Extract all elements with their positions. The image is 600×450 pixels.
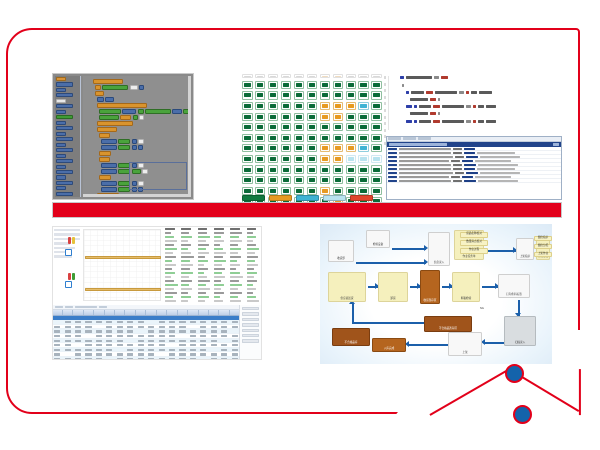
table-cell[interactable] xyxy=(126,334,136,338)
status-grid-cell[interactable] xyxy=(371,81,382,89)
status-grid-cell[interactable] xyxy=(268,134,279,142)
table-cell[interactable] xyxy=(199,325,209,329)
status-grid-cell[interactable] xyxy=(320,113,331,121)
status-grid-cell[interactable] xyxy=(307,144,318,152)
status-grid-cell[interactable] xyxy=(294,144,305,152)
table-body[interactable] xyxy=(53,320,261,360)
table-column-header[interactable] xyxy=(220,310,230,315)
status-grid-cell[interactable] xyxy=(294,176,305,184)
table-cell[interactable] xyxy=(105,339,115,343)
status-grid-cell[interactable] xyxy=(255,113,266,121)
status-grid-cell[interactable] xyxy=(333,144,344,152)
table-column-header[interactable] xyxy=(63,310,73,315)
status-grid-cell[interactable] xyxy=(255,74,266,78)
status-grid-cell[interactable] xyxy=(281,134,292,142)
toolbox-block[interactable] xyxy=(56,110,66,114)
block-chip[interactable] xyxy=(97,121,133,126)
status-grid-cell[interactable] xyxy=(371,113,382,121)
table-cell[interactable] xyxy=(157,325,167,329)
status-grid-cell[interactable] xyxy=(294,102,305,110)
status-grid-cell[interactable] xyxy=(281,91,292,99)
table-cell[interactable] xyxy=(63,334,73,338)
status-grid-cell[interactable] xyxy=(333,81,344,89)
table-cell[interactable] xyxy=(53,339,63,343)
toolbox-block[interactable] xyxy=(56,192,73,196)
status-grid-cell[interactable] xyxy=(268,165,279,173)
table-cell[interactable] xyxy=(147,329,157,333)
table-column-header[interactable] xyxy=(53,310,63,315)
block-chip[interactable] xyxy=(139,115,144,120)
table-cell[interactable] xyxy=(189,348,199,352)
status-grid-cell[interactable] xyxy=(242,91,253,99)
schedule-gantt-grid[interactable] xyxy=(83,229,161,301)
block-chip[interactable] xyxy=(101,139,117,144)
status-grid-cell[interactable] xyxy=(358,81,369,89)
table-cell[interactable] xyxy=(210,339,220,343)
table-column-header[interactable] xyxy=(137,310,147,315)
status-grid-cell[interactable] xyxy=(281,81,292,89)
table-cell[interactable] xyxy=(220,348,230,352)
block-chip[interactable] xyxy=(97,103,147,108)
toolbox-block[interactable] xyxy=(56,181,73,185)
status-grid-cell[interactable] xyxy=(346,134,357,142)
status-grid-cell[interactable] xyxy=(255,102,266,110)
status-grid-cell[interactable] xyxy=(242,144,253,152)
block-chip[interactable] xyxy=(133,115,138,120)
toolbox-block[interactable] xyxy=(56,186,66,190)
table-cell[interactable] xyxy=(74,348,84,352)
block-statement-row[interactable] xyxy=(99,151,111,156)
table-cell[interactable] xyxy=(210,325,220,329)
table-cell[interactable] xyxy=(105,352,115,356)
status-grid-cell[interactable] xyxy=(320,91,331,99)
table-cell[interactable] xyxy=(168,329,178,333)
toolbox-block[interactable] xyxy=(56,143,66,147)
status-grid-cell[interactable] xyxy=(242,165,253,173)
table-cell[interactable] xyxy=(199,320,209,324)
block-statement-row[interactable] xyxy=(93,79,123,84)
table-column-header[interactable] xyxy=(126,310,136,315)
status-grid-cell[interactable] xyxy=(294,165,305,173)
status-grid-cell[interactable] xyxy=(371,134,382,142)
status-grid-cell[interactable] xyxy=(358,91,369,99)
table-cell[interactable] xyxy=(210,348,220,352)
toolbox-block[interactable] xyxy=(56,175,66,179)
block-chip[interactable] xyxy=(95,91,104,96)
toolbox-block[interactable] xyxy=(56,82,73,86)
table-cell[interactable] xyxy=(126,352,136,356)
status-grid-cell[interactable] xyxy=(281,165,292,173)
toolbox-block[interactable] xyxy=(56,99,66,103)
table-cell[interactable] xyxy=(95,325,105,329)
table-cell[interactable] xyxy=(210,352,220,356)
status-grid-cell[interactable] xyxy=(371,144,382,152)
table-cell[interactable] xyxy=(53,334,63,338)
table-column-header[interactable] xyxy=(116,310,126,315)
gantt-task-bar[interactable] xyxy=(85,256,161,259)
table-cell[interactable] xyxy=(189,352,199,356)
status-grid-cell[interactable] xyxy=(242,81,253,89)
table-cell[interactable] xyxy=(74,357,84,360)
table-cell[interactable] xyxy=(116,325,126,329)
status-grid-cell[interactable] xyxy=(307,81,318,89)
status-grid-cell[interactable] xyxy=(268,155,279,163)
status-grid-cell[interactable] xyxy=(333,113,344,121)
toolbox-block[interactable] xyxy=(56,88,66,92)
table-cell[interactable] xyxy=(74,334,84,338)
table-cell[interactable] xyxy=(157,339,167,343)
status-grid-cell[interactable] xyxy=(320,102,331,110)
schedule-node-marker[interactable] xyxy=(65,249,72,256)
block-chip[interactable] xyxy=(93,79,123,84)
status-grid-cell[interactable] xyxy=(371,102,382,110)
table-cell[interactable] xyxy=(116,334,126,338)
toolbox-block[interactable] xyxy=(56,77,66,81)
block-statement-row[interactable] xyxy=(97,103,147,108)
status-grid-cell[interactable] xyxy=(268,176,279,184)
status-grid-cell[interactable] xyxy=(268,123,279,131)
table-cell[interactable] xyxy=(137,348,147,352)
table-cell[interactable] xyxy=(178,343,188,347)
table-cell[interactable] xyxy=(178,329,188,333)
table-cell[interactable] xyxy=(210,343,220,347)
block-chip[interactable] xyxy=(101,187,117,192)
table-cell[interactable] xyxy=(168,339,178,343)
block-chip[interactable] xyxy=(130,85,138,90)
table-cell[interactable] xyxy=(84,352,94,356)
status-grid-cell[interactable] xyxy=(346,123,357,131)
table-cell[interactable] xyxy=(189,334,199,338)
status-grid-cell[interactable] xyxy=(358,144,369,152)
table-column-header[interactable] xyxy=(210,310,220,315)
table-cell[interactable] xyxy=(63,357,73,360)
block-statement-row[interactable] xyxy=(99,157,110,162)
table-cell[interactable] xyxy=(84,320,94,324)
table-cell[interactable] xyxy=(220,320,230,324)
table-cell[interactable] xyxy=(84,357,94,360)
table-cell[interactable] xyxy=(95,320,105,324)
table-cell[interactable] xyxy=(157,334,167,338)
table-column-header[interactable] xyxy=(178,310,188,315)
table-cell[interactable] xyxy=(189,320,199,324)
table-cell[interactable] xyxy=(116,357,126,360)
table-column-header[interactable] xyxy=(74,310,84,315)
toolbox-block[interactable] xyxy=(56,121,66,125)
block-chip[interactable] xyxy=(95,85,101,90)
table-cell[interactable] xyxy=(126,320,136,324)
table-cell[interactable] xyxy=(137,325,147,329)
table-cell[interactable] xyxy=(105,325,115,329)
block-chip[interactable] xyxy=(97,127,117,132)
schedule-node-marker[interactable] xyxy=(65,281,72,288)
table-cell[interactable] xyxy=(95,357,105,360)
table-cell[interactable] xyxy=(220,329,230,333)
block-statement-row[interactable] xyxy=(95,91,104,96)
status-grid-cell[interactable] xyxy=(320,144,331,152)
status-grid-cell[interactable] xyxy=(242,176,253,184)
table-cell[interactable] xyxy=(137,334,147,338)
table-cell[interactable] xyxy=(168,325,178,329)
table-cell[interactable] xyxy=(63,329,73,333)
table-cell[interactable] xyxy=(220,357,230,360)
table-cell[interactable] xyxy=(189,357,199,360)
table-cell[interactable] xyxy=(168,334,178,338)
table-cell[interactable] xyxy=(157,352,167,356)
status-grid-cell[interactable] xyxy=(358,134,369,142)
status-grid-cell[interactable] xyxy=(320,155,331,163)
toolbox-block[interactable] xyxy=(56,165,66,169)
table-cell[interactable] xyxy=(74,339,84,343)
status-grid-cell[interactable] xyxy=(281,155,292,163)
table-cell[interactable] xyxy=(168,352,178,356)
table-cell[interactable] xyxy=(189,325,199,329)
gantt-task-bar[interactable] xyxy=(85,288,161,291)
table-cell[interactable] xyxy=(199,329,209,333)
table-cell[interactable] xyxy=(53,352,63,356)
table-cell[interactable] xyxy=(220,339,230,343)
table-cell[interactable] xyxy=(126,343,136,347)
status-grid-cell[interactable] xyxy=(281,144,292,152)
block-chip[interactable] xyxy=(99,175,111,180)
status-grid-cell[interactable] xyxy=(346,176,357,184)
status-grid-cell[interactable] xyxy=(358,176,369,184)
table-cell[interactable] xyxy=(63,343,73,347)
status-grid-cell[interactable] xyxy=(268,74,279,78)
status-grid-cell[interactable] xyxy=(307,123,318,131)
block-statement-row[interactable] xyxy=(95,85,144,90)
status-grid-cell[interactable] xyxy=(281,102,292,110)
status-grid-cell[interactable] xyxy=(333,123,344,131)
block-chip[interactable] xyxy=(132,139,137,144)
status-grid-cell[interactable] xyxy=(307,74,318,78)
block-chip[interactable] xyxy=(102,85,128,90)
table-cell[interactable] xyxy=(105,334,115,338)
table-cell[interactable] xyxy=(220,343,230,347)
status-grid-cell[interactable] xyxy=(346,165,357,173)
table-cell[interactable] xyxy=(157,348,167,352)
status-grid-cell[interactable] xyxy=(333,102,344,110)
status-grid-cell[interactable] xyxy=(281,74,292,78)
status-grid-cell[interactable] xyxy=(358,102,369,110)
blocks-workspace-canvas[interactable] xyxy=(83,76,191,197)
status-grid-cell[interactable] xyxy=(294,81,305,89)
table-cell[interactable] xyxy=(84,325,94,329)
toolbox-block[interactable] xyxy=(56,154,66,158)
status-grid-cell[interactable] xyxy=(268,102,279,110)
table-cell[interactable] xyxy=(199,343,209,347)
block-chip[interactable] xyxy=(172,109,182,114)
toolbox-block[interactable] xyxy=(56,137,73,141)
table-cell[interactable] xyxy=(157,320,167,324)
table-cell[interactable] xyxy=(147,357,157,360)
block-statement-row[interactable] xyxy=(99,109,191,114)
status-grid-cell[interactable] xyxy=(333,176,344,184)
block-statement-row[interactable] xyxy=(101,139,144,144)
table-cell[interactable] xyxy=(63,339,73,343)
table-cell[interactable] xyxy=(126,325,136,329)
status-grid-cell[interactable] xyxy=(358,165,369,173)
status-grid-cell[interactable] xyxy=(255,144,266,152)
block-chip[interactable] xyxy=(101,169,117,174)
table-cell[interactable] xyxy=(95,339,105,343)
table-cell[interactable] xyxy=(84,334,94,338)
status-grid-cell[interactable] xyxy=(371,165,382,173)
table-cell[interactable] xyxy=(168,357,178,360)
log-console-pane[interactable] xyxy=(386,136,562,200)
status-grid-cell[interactable] xyxy=(320,134,331,142)
table-cell[interactable] xyxy=(168,348,178,352)
status-grid-dashboard[interactable] xyxy=(240,72,392,202)
block-statement-row[interactable] xyxy=(97,121,133,126)
status-grid-matrix[interactable] xyxy=(242,74,382,202)
status-grid-cell[interactable] xyxy=(371,91,382,99)
table-cell[interactable] xyxy=(53,329,63,333)
status-grid-cell[interactable] xyxy=(333,165,344,173)
status-grid-cell[interactable] xyxy=(294,113,305,121)
table-cell[interactable] xyxy=(199,352,209,356)
table-cell[interactable] xyxy=(199,348,209,352)
table-cell[interactable] xyxy=(147,352,157,356)
table-cell[interactable] xyxy=(157,357,167,360)
table-cell[interactable] xyxy=(157,329,167,333)
table-cell[interactable] xyxy=(63,352,73,356)
block-chip[interactable] xyxy=(145,109,171,114)
status-grid-cell[interactable] xyxy=(358,155,369,163)
table-cell[interactable] xyxy=(137,343,147,347)
block-chip[interactable] xyxy=(118,139,130,144)
table-column-header[interactable] xyxy=(105,310,115,315)
status-grid-cell[interactable] xyxy=(268,81,279,89)
status-grid-cell[interactable] xyxy=(320,81,331,89)
code-editor-pane[interactable] xyxy=(386,72,562,134)
table-cell[interactable] xyxy=(126,339,136,343)
status-grid-cell[interactable] xyxy=(346,144,357,152)
table-cell[interactable] xyxy=(84,343,94,347)
blocks-visual-programming-editor[interactable] xyxy=(52,73,194,200)
block-statement-row[interactable] xyxy=(97,97,114,102)
source-code-and-log-console[interactable] xyxy=(386,72,562,200)
table-cell[interactable] xyxy=(116,339,126,343)
table-column-header[interactable] xyxy=(189,310,199,315)
status-grid-cell[interactable] xyxy=(333,91,344,99)
table-cell[interactable] xyxy=(126,348,136,352)
status-grid-cell[interactable] xyxy=(242,74,253,78)
block-chip[interactable] xyxy=(138,145,143,150)
toolbox-block[interactable] xyxy=(56,132,66,136)
blocks-toolbox-palette[interactable] xyxy=(55,76,81,197)
table-cell[interactable] xyxy=(199,339,209,343)
table-cell[interactable] xyxy=(95,334,105,338)
toolbox-block[interactable] xyxy=(56,148,73,152)
status-grid-cell[interactable] xyxy=(255,91,266,99)
table-cell[interactable] xyxy=(220,325,230,329)
log-console-rows[interactable] xyxy=(387,147,561,199)
status-grid-cell[interactable] xyxy=(371,176,382,184)
status-grid-cell[interactable] xyxy=(255,165,266,173)
table-cell[interactable] xyxy=(137,320,147,324)
status-grid-cell[interactable] xyxy=(242,113,253,121)
block-chip[interactable] xyxy=(120,115,131,120)
table-cell[interactable] xyxy=(116,320,126,324)
table-cell[interactable] xyxy=(220,352,230,356)
block-chip[interactable] xyxy=(97,97,104,102)
blocks-vertical-scrollbar[interactable] xyxy=(188,76,191,197)
table-cell[interactable] xyxy=(74,325,84,329)
toolbox-block[interactable] xyxy=(56,159,73,163)
table-cell[interactable] xyxy=(189,339,199,343)
status-grid-cell[interactable] xyxy=(255,81,266,89)
status-grid-cell[interactable] xyxy=(333,155,344,163)
status-grid-cell[interactable] xyxy=(307,165,318,173)
block-chip[interactable] xyxy=(101,145,117,150)
table-cell[interactable] xyxy=(105,348,115,352)
table-column-header[interactable] xyxy=(168,310,178,315)
table-cell[interactable] xyxy=(147,334,157,338)
status-grid-cell[interactable] xyxy=(281,123,292,131)
status-grid-cell[interactable] xyxy=(358,123,369,131)
status-grid-cell[interactable] xyxy=(281,176,292,184)
block-statement-row[interactable] xyxy=(101,145,143,150)
block-chip[interactable] xyxy=(138,109,144,114)
table-cell[interactable] xyxy=(126,329,136,333)
toolbox-block[interactable] xyxy=(56,93,73,97)
table-cell[interactable] xyxy=(147,343,157,347)
status-grid-cell[interactable] xyxy=(255,134,266,142)
table-cell[interactable] xyxy=(199,357,209,360)
block-chip[interactable] xyxy=(138,139,144,144)
status-grid-cell[interactable] xyxy=(371,155,382,163)
table-cell[interactable] xyxy=(95,352,105,356)
table-cell[interactable] xyxy=(105,329,115,333)
table-cell[interactable] xyxy=(147,348,157,352)
table-cell[interactable] xyxy=(137,329,147,333)
status-grid-cell[interactable] xyxy=(242,134,253,142)
table-cell[interactable] xyxy=(95,348,105,352)
status-grid-cell[interactable] xyxy=(358,113,369,121)
table-cell[interactable] xyxy=(95,329,105,333)
status-grid-cell[interactable] xyxy=(281,113,292,121)
status-grid-cell[interactable] xyxy=(346,74,357,78)
status-grid-cell[interactable] xyxy=(294,155,305,163)
block-chip[interactable] xyxy=(99,115,119,120)
toolbox-block[interactable] xyxy=(56,115,73,119)
status-grid-cell[interactable] xyxy=(307,155,318,163)
table-cell[interactable] xyxy=(210,329,220,333)
table-cell[interactable] xyxy=(74,329,84,333)
status-grid-cell[interactable] xyxy=(242,155,253,163)
block-chip[interactable] xyxy=(118,145,130,150)
status-grid-cell[interactable] xyxy=(320,176,331,184)
status-grid-cell[interactable] xyxy=(346,155,357,163)
status-grid-cell[interactable] xyxy=(307,113,318,121)
table-cell[interactable] xyxy=(210,357,220,360)
schedule-data-table[interactable] xyxy=(53,305,261,359)
table-cell[interactable] xyxy=(63,325,73,329)
table-cell[interactable] xyxy=(178,339,188,343)
table-cell[interactable] xyxy=(189,343,199,347)
block-chip[interactable] xyxy=(99,157,110,162)
table-cell[interactable] xyxy=(137,339,147,343)
block-chip[interactable] xyxy=(132,145,137,150)
table-cell[interactable] xyxy=(126,357,136,360)
block-chip[interactable] xyxy=(99,151,111,156)
status-grid-cell[interactable] xyxy=(294,134,305,142)
table-cell[interactable] xyxy=(210,320,220,324)
table-cell[interactable] xyxy=(178,348,188,352)
table-cell[interactable] xyxy=(178,334,188,338)
status-grid-cell[interactable] xyxy=(307,102,318,110)
blocks-horizontal-scrollbar[interactable] xyxy=(83,194,191,197)
